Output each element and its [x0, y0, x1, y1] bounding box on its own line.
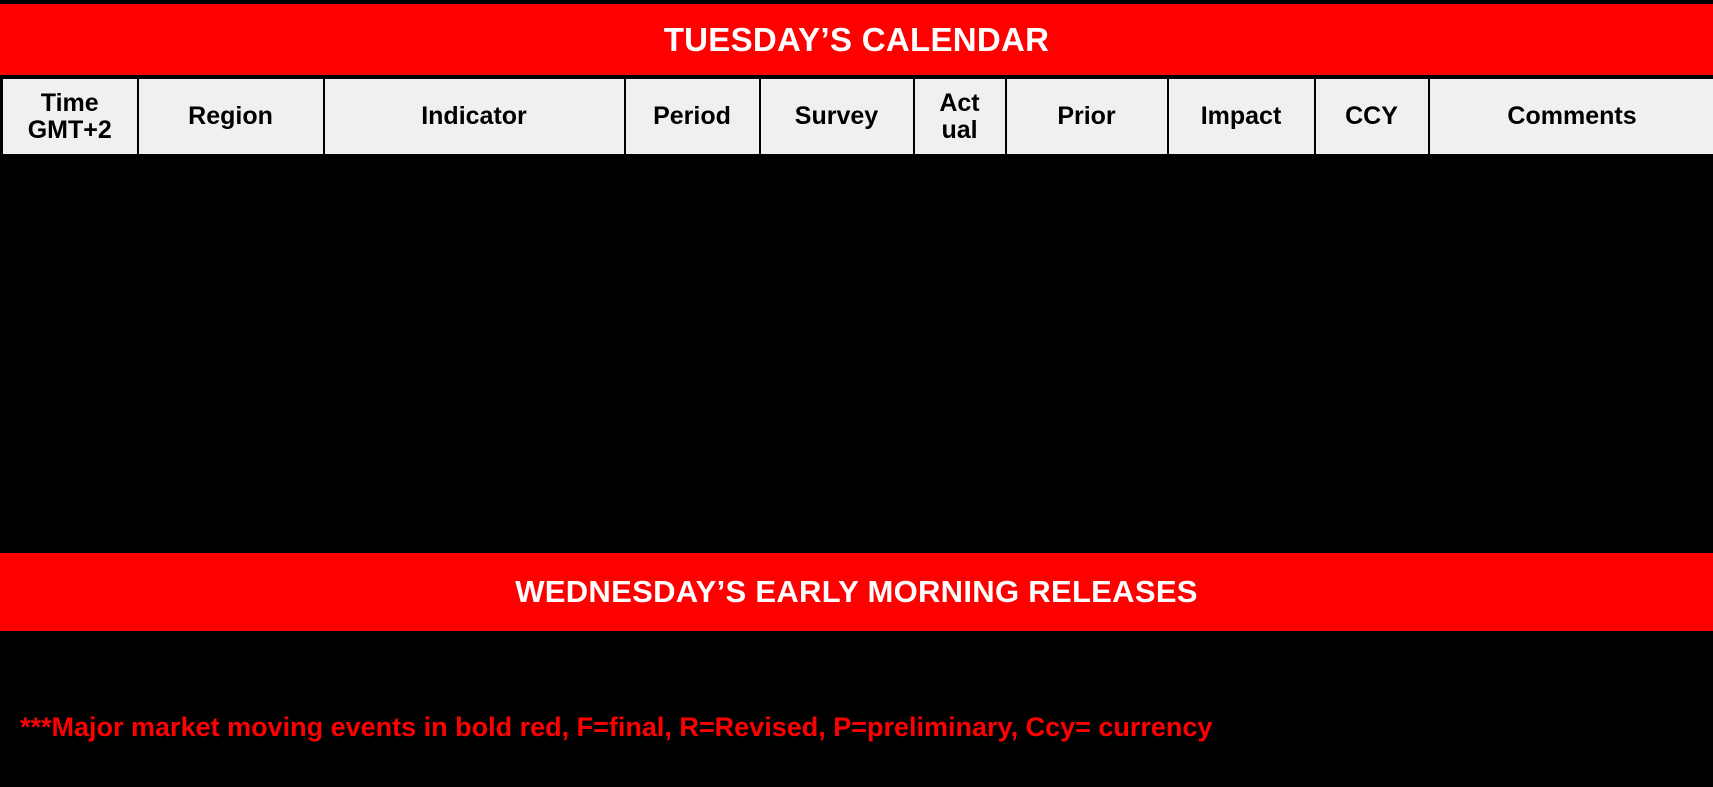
cell-impact	[1168, 396, 1315, 456]
cell-impact	[1168, 156, 1315, 216]
cell-comments	[1429, 216, 1713, 276]
cell-impact	[1168, 456, 1315, 516]
cell-prior	[1006, 396, 1168, 456]
cell-survey	[760, 276, 914, 336]
cell-period	[625, 216, 760, 276]
cell-period	[625, 276, 760, 336]
cell-survey	[760, 336, 914, 396]
cell-prior	[1006, 216, 1168, 276]
table-row	[2, 336, 1713, 396]
cell-actual	[914, 336, 1006, 396]
cell-ccy	[1315, 456, 1429, 516]
cell-indicator	[324, 156, 625, 216]
cell-indicator	[324, 216, 625, 276]
cell-prior	[1006, 276, 1168, 336]
cell-impact	[1168, 336, 1315, 396]
column-header-region[interactable]: Region	[138, 78, 324, 156]
cell-actual	[914, 456, 1006, 516]
cell-indicator	[324, 276, 625, 336]
cell-comments	[1429, 396, 1713, 456]
cell-ccy	[1315, 216, 1429, 276]
column-header-impact[interactable]: Impact	[1168, 78, 1315, 156]
column-header-prior[interactable]: Prior	[1006, 78, 1168, 156]
cell-ccy	[1315, 336, 1429, 396]
column-header-survey[interactable]: Survey	[760, 78, 914, 156]
cell-indicator	[324, 396, 625, 456]
column-header-indicator[interactable]: Indicator	[324, 78, 625, 156]
cell-ccy	[1315, 156, 1429, 216]
cell-comments	[1429, 336, 1713, 396]
column-header-actual[interactable]: Act ual	[914, 78, 1006, 156]
table-row	[2, 456, 1713, 516]
cell-period	[625, 396, 760, 456]
table-row	[2, 216, 1713, 276]
cell-region	[138, 336, 324, 396]
column-header-actual-line2: ual	[941, 116, 977, 144]
cell-comments	[1429, 456, 1713, 516]
cell-actual	[914, 396, 1006, 456]
cell-time	[2, 276, 138, 336]
column-header-actual-line1: Act	[939, 89, 979, 117]
cell-actual	[914, 156, 1006, 216]
cell-prior	[1006, 156, 1168, 216]
cell-survey	[760, 396, 914, 456]
cell-time	[2, 216, 138, 276]
cell-region	[138, 216, 324, 276]
cell-impact	[1168, 276, 1315, 336]
cell-prior	[1006, 336, 1168, 396]
cell-actual	[914, 216, 1006, 276]
cell-period	[625, 336, 760, 396]
cell-actual	[914, 276, 1006, 336]
cell-comments	[1429, 276, 1713, 336]
cell-ccy	[1315, 396, 1429, 456]
cell-impact	[1168, 216, 1315, 276]
cell-period	[625, 456, 760, 516]
cell-period	[625, 156, 760, 216]
cell-survey	[760, 156, 914, 216]
column-header-time[interactable]: Time GMT+2	[2, 78, 138, 156]
economic-calendar-table: Time GMT+2 Region Indicator Period Surve…	[0, 76, 1713, 516]
column-header-period[interactable]: Period	[625, 78, 760, 156]
cell-time	[2, 396, 138, 456]
column-header-comments[interactable]: Comments	[1429, 78, 1713, 156]
table-header-row: Time GMT+2 Region Indicator Period Surve…	[2, 78, 1713, 156]
cell-region	[138, 396, 324, 456]
column-header-time-line1: Time	[41, 89, 99, 117]
cell-comments	[1429, 156, 1713, 216]
cell-indicator	[324, 456, 625, 516]
wednesday-releases-banner: WEDNESDAY’S EARLY MORNING RELEASES	[0, 553, 1713, 631]
table-row	[2, 276, 1713, 336]
tuesday-calendar-banner: TUESDAY’S CALENDAR	[0, 4, 1713, 75]
table-row	[2, 396, 1713, 456]
cell-survey	[760, 216, 914, 276]
cell-time	[2, 336, 138, 396]
cell-region	[138, 276, 324, 336]
cell-time	[2, 156, 138, 216]
cell-indicator	[324, 336, 625, 396]
cell-ccy	[1315, 276, 1429, 336]
cell-region	[138, 156, 324, 216]
table-body	[2, 156, 1713, 516]
cell-prior	[1006, 456, 1168, 516]
column-header-time-line2: GMT+2	[28, 116, 112, 144]
wednesday-releases-title: WEDNESDAY’S EARLY MORNING RELEASES	[515, 574, 1198, 610]
legend-footnote: ***Major market moving events in bold re…	[20, 712, 1212, 743]
column-header-ccy[interactable]: CCY	[1315, 78, 1429, 156]
cell-region	[138, 456, 324, 516]
table-row	[2, 156, 1713, 216]
tuesday-calendar-title: TUESDAY’S CALENDAR	[664, 21, 1050, 59]
cell-survey	[760, 456, 914, 516]
cell-time	[2, 456, 138, 516]
